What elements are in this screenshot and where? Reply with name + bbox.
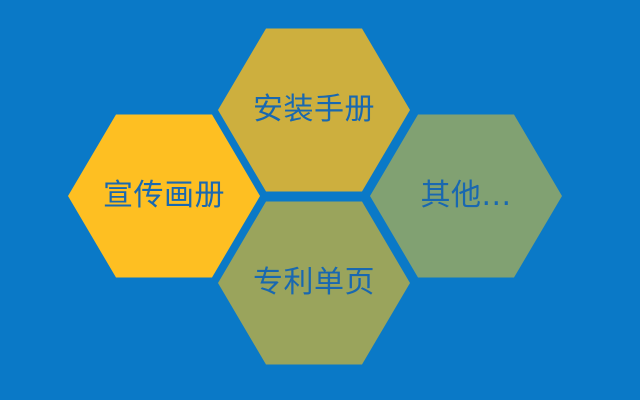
hexagon-label-others: 其他... — [420, 181, 511, 211]
hexagon-cluster — [0, 0, 640, 400]
hexagon-label-install-manual: 安装手册 — [253, 95, 375, 125]
hexagon-shapes — [0, 0, 640, 400]
hexagon-label-patent-sheet: 专利单页 — [253, 268, 375, 298]
diagram-canvas: 宣传画册 安装手册 专利单页 其他... — [0, 0, 640, 400]
hexagon-label-brochure: 宣传画册 — [103, 181, 225, 211]
